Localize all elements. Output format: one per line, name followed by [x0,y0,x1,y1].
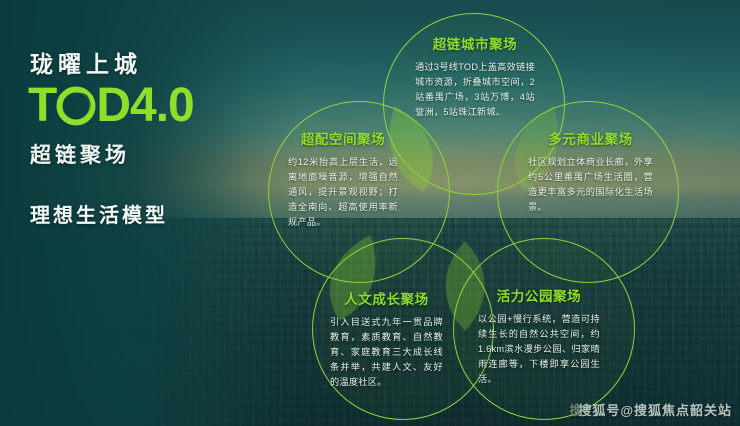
venn-card-top: 超链城市聚场 通过3号线TOD上盖高效链接城市资源，折叠城市空间，2站番禺广场，… [405,33,545,120]
venn-title-right: 多元商业聚场 [528,128,653,148]
venn-card-right: 多元商业聚场 社区规划立体商业长廊，外享约5公里番禺广场生活圈，营造更丰富多元的… [528,128,653,215]
poster-stage: 珑曜上城 T D4.0 超链聚场 理想生活模型 [0,0,740,426]
venn-title-left: 超配空间聚场 [288,128,398,148]
venn-description-right: 社区规划立体商业长廊，外享约5公里番禺广场生活圈，营造更丰富多元的国际化生活场景… [528,155,653,215]
venn-card-bottom-left: 人文成长聚场 引入目送式九年一贯品牌教育，素质教育、自然教育、家庭教育三大成长线… [330,288,443,390]
venn-card-left: 超配空间聚场 约12米抬高上层生活，远离地面噪音源，增强自然通风，提升景观视野；… [288,128,398,230]
watermark: 搜 搜狐号@搜狐焦点韶关站 [578,400,732,419]
venn-card-bottom-right: 活力公园聚场 以公园+慢行系统，营造可持续生长的自然公共空间，约1.6km滨水漫… [478,285,600,387]
venn-description-left: 约12米抬高上层生活，远离地面噪音源，增强自然通风，提升景观视野；打造全南向、超… [288,155,398,230]
venn-title-bottom-right: 活力公园聚场 [478,285,600,305]
venn-title-bottom-left: 人文成长聚场 [330,288,443,308]
venn-title-top: 超链城市聚场 [405,33,545,53]
venn-diagram: 超链城市聚场 通过3号线TOD上盖高效链接城市资源，折叠城市空间，2站番禺广场，… [0,0,740,426]
venn-description-bottom-left: 引入目送式九年一贯品牌教育，素质教育、自然教育、家庭教育三大成长线条并举，共建人… [330,315,443,390]
watermark-ghost: 搜 [569,400,583,419]
venn-description-bottom-right: 以公园+慢行系统，营造可持续生长的自然公共空间，约1.6km滨水漫步公园、归家晴… [478,312,600,387]
venn-description-top: 通过3号线TOD上盖高效链接城市资源，折叠城市空间，2站番禺广场，3站万博，4站… [415,60,535,120]
watermark-text: 搜狐号@搜狐焦点韶关站 [578,403,732,418]
